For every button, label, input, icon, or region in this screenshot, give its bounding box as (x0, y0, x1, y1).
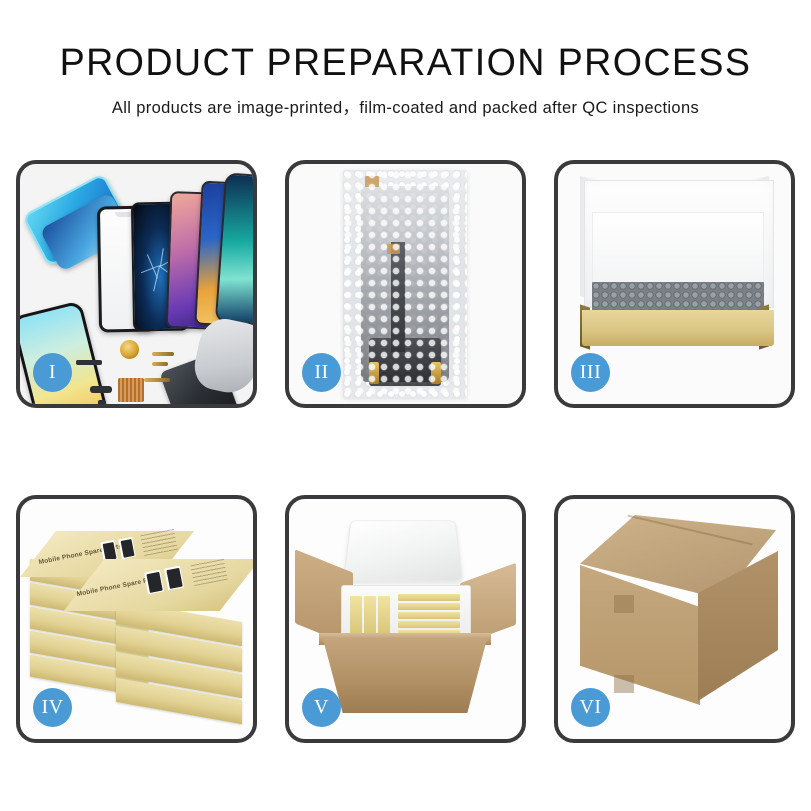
bubble-wrap-bag (343, 170, 467, 398)
flex-cable-part-4 (144, 378, 170, 382)
process-step-panel-6[interactable]: VI (554, 495, 795, 743)
process-step-grid: I II III (16, 160, 795, 743)
flex-cable-part-2 (152, 362, 168, 366)
step-badge-4: IV (33, 688, 72, 727)
page-header: PRODUCT PREPARATION PROCESS All products… (0, 0, 811, 118)
antenna-strip-part (76, 360, 102, 365)
retail-box-2 (364, 596, 376, 636)
gold-connector-right (431, 362, 441, 384)
process-step-panel-2[interactable]: II (285, 160, 526, 408)
copper-mesh-part (118, 378, 144, 402)
retail-box-6 (398, 612, 460, 619)
tape-strip-top (365, 176, 379, 187)
button-part-1 (90, 386, 112, 393)
foam-box-lid (343, 520, 463, 581)
carton-tab-upper (614, 595, 634, 613)
step-badge-3: III (571, 353, 610, 392)
retail-box-1 (350, 596, 362, 636)
retail-box-3 (378, 596, 390, 636)
process-step-panel-5[interactable]: V (285, 495, 526, 743)
speaker-coil-part (120, 340, 139, 359)
carton-tab-lower (614, 675, 634, 693)
retail-box-7 (398, 621, 460, 628)
box-front-panel (582, 310, 774, 346)
step-badge-2: II (302, 353, 341, 392)
step-badge-5: V (302, 688, 341, 727)
flex-cable-part-3 (98, 400, 106, 404)
process-step-panel-1[interactable]: I (16, 160, 257, 408)
lcd-flex-cable (391, 242, 405, 352)
step-badge-6: VI (571, 688, 610, 727)
page-title: PRODUCT PREPARATION PROCESS (4, 43, 807, 83)
carton-body (323, 639, 487, 713)
retail-box-4 (398, 594, 460, 601)
gold-connector-left (369, 362, 379, 384)
step-badge-1: I (33, 353, 72, 392)
retail-box-5 (398, 603, 460, 610)
page-subtitle: All products are image-printed，film-coat… (0, 94, 811, 118)
tape-strip-mid (387, 244, 400, 254)
process-step-panel-3[interactable]: III (554, 160, 795, 408)
flex-cable-part-1 (152, 352, 174, 356)
bubble-padding-layer (592, 282, 764, 312)
process-step-panel-4[interactable]: Mobile Phone Spare Parts Mobile Phone Sp… (16, 495, 257, 743)
white-foam-sheet (592, 212, 764, 286)
